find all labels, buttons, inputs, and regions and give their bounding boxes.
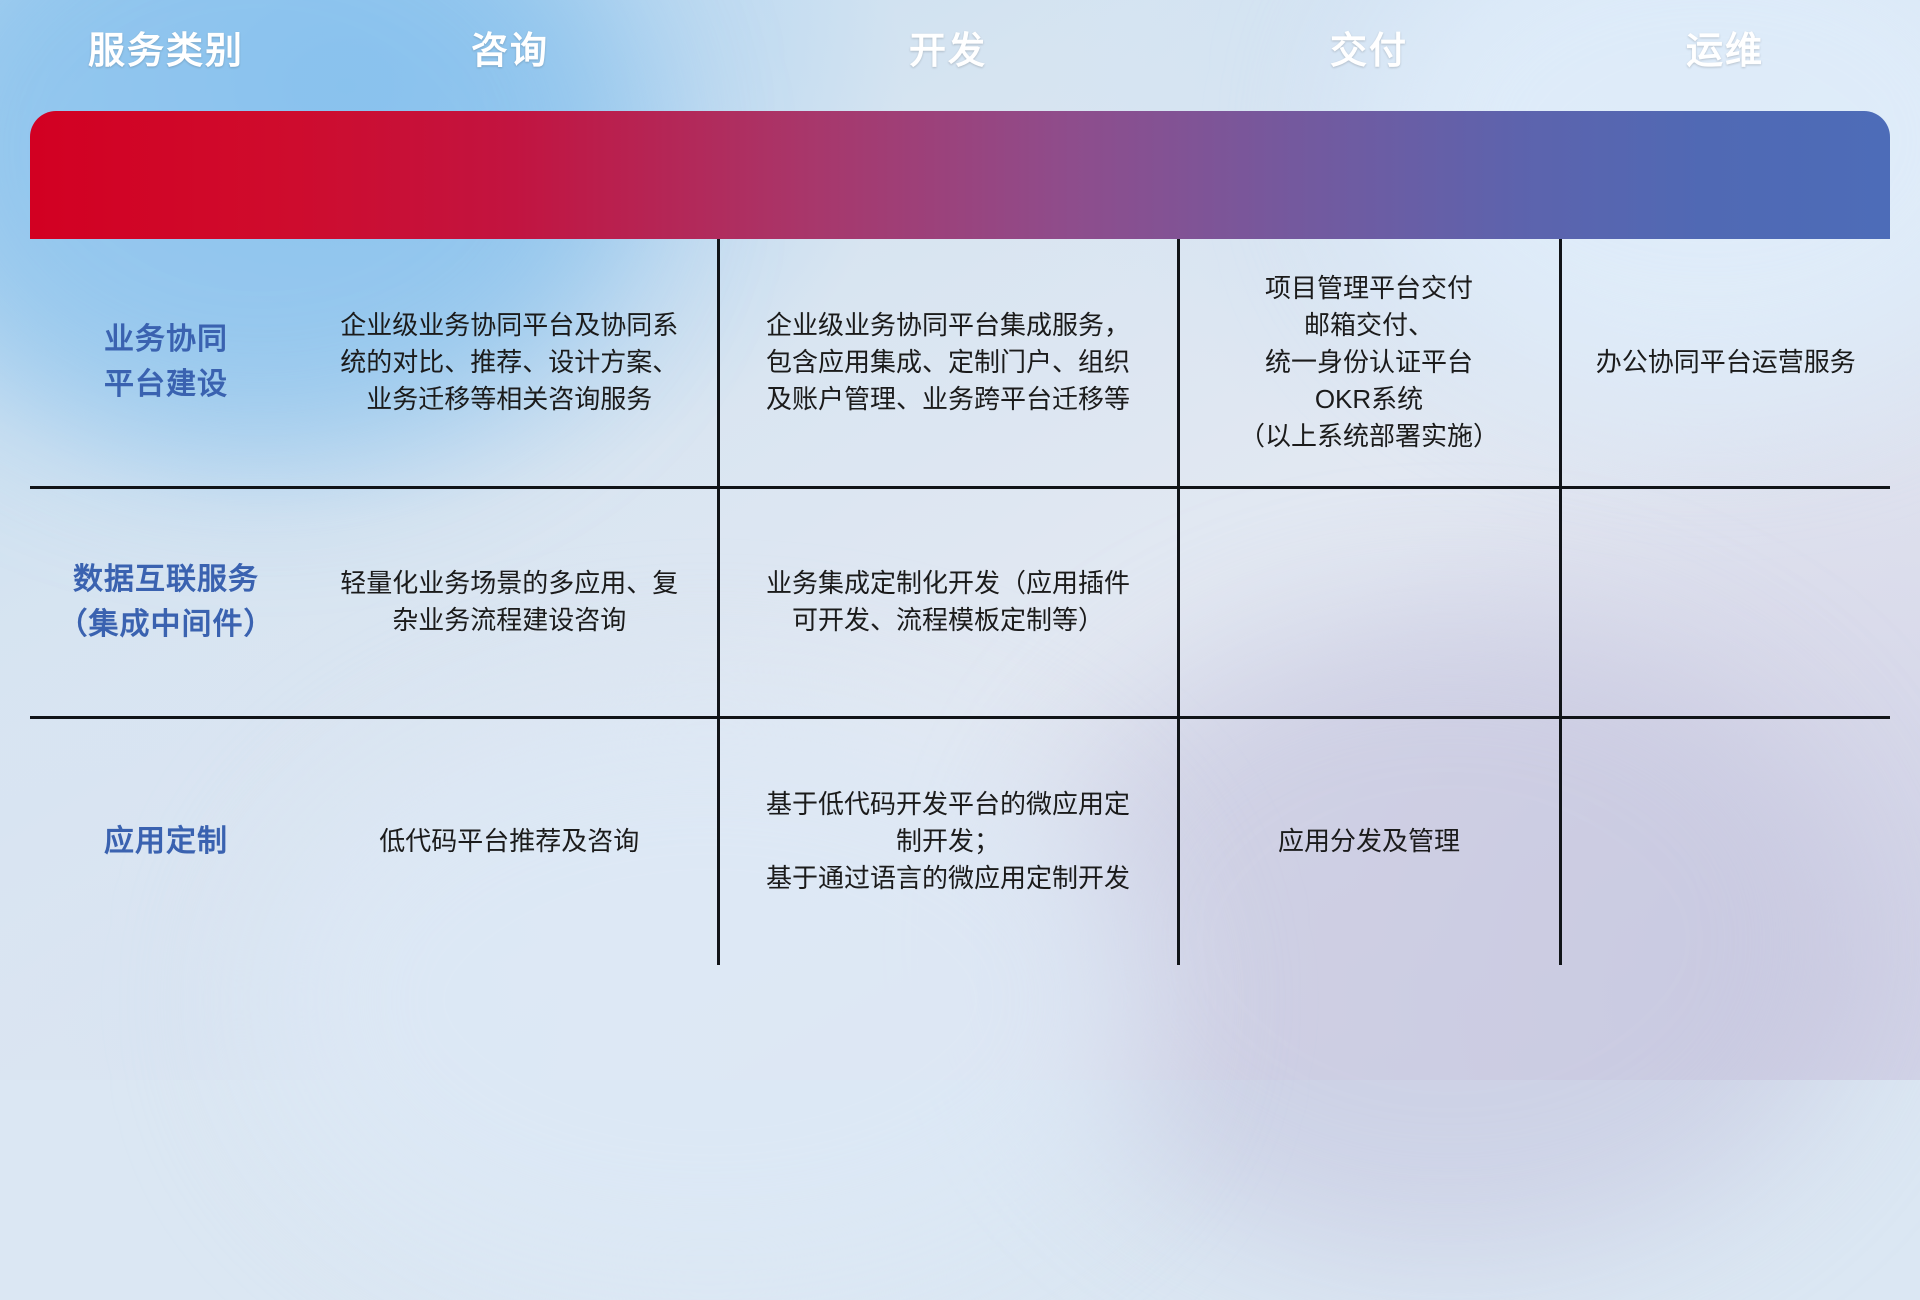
- cell-r2-development: 业务集成定制化开发（应用插件 可开发、流程模板定制等）: [718, 487, 1178, 717]
- cell-r2-delivery: [1178, 487, 1560, 717]
- table-body: 业务协同 平台建设 企业级业务协同平台及协同系 统的对比、推荐、设计方案、 业务…: [30, 239, 1890, 965]
- row-label-data-interconnect: 数据互联服务 （集成中间件）: [30, 487, 302, 717]
- header-gradient-bar: [30, 111, 1890, 239]
- table-header: 服务类别 咨询 开发 交付 运维: [30, 111, 1890, 239]
- cell-r3-delivery: 应用分发及管理: [1178, 717, 1560, 965]
- table-row: 业务协同 平台建设 企业级业务协同平台及协同系 统的对比、推荐、设计方案、 业务…: [30, 239, 1890, 487]
- cell-r2-consulting: 轻量化业务场景的多应用、复 杂业务流程建设咨询: [302, 487, 718, 717]
- table-row: 数据互联服务 （集成中间件） 轻量化业务场景的多应用、复 杂业务流程建设咨询 业…: [30, 487, 1890, 717]
- service-matrix-table: 服务类别 咨询 开发 交付 运维 业务协同 平台建设 企业级业务协同平台及协同系…: [30, 111, 1890, 965]
- column-header-consulting: 咨询: [302, 0, 718, 111]
- column-header-development: 开发: [718, 0, 1178, 111]
- cell-r1-operations: 办公协同平台运营服务: [1560, 239, 1890, 487]
- service-table: 服务类别 咨询 开发 交付 运维 业务协同 平台建设 企业级业务协同平台及协同系…: [30, 111, 1890, 965]
- slide-canvas: 服务类别 咨询 开发 交付 运维 业务协同 平台建设 企业级业务协同平台及协同系…: [0, 0, 1920, 1080]
- cell-r1-delivery: 项目管理平台交付 邮箱交付、 统一身份认证平台 OKR系统 （以上系统部署实施）: [1178, 239, 1560, 487]
- cell-r1-consulting: 企业级业务协同平台及协同系 统的对比、推荐、设计方案、 业务迁移等相关咨询服务: [302, 239, 718, 487]
- header-labels-row: 服务类别 咨询 开发 交付 运维: [30, 0, 1890, 111]
- cell-r2-operations: [1560, 487, 1890, 717]
- row-label-business-collaboration: 业务协同 平台建设: [30, 239, 302, 487]
- cell-r3-consulting: 低代码平台推荐及咨询: [302, 717, 718, 965]
- cell-r3-operations: [1560, 717, 1890, 965]
- cell-r1-development: 企业级业务协同平台集成服务， 包含应用集成、定制门户、组织 及账户管理、业务跨平…: [718, 239, 1178, 487]
- cell-r3-development: 基于低代码开发平台的微应用定 制开发； 基于通过语言的微应用定制开发: [718, 717, 1178, 965]
- column-header-category: 服务类别: [30, 0, 302, 111]
- table-row: 应用定制 低代码平台推荐及咨询 基于低代码开发平台的微应用定 制开发； 基于通过…: [30, 717, 1890, 965]
- row-label-app-customization: 应用定制: [30, 717, 302, 965]
- column-header-delivery: 交付: [1178, 0, 1560, 111]
- column-header-operations: 运维: [1560, 0, 1890, 111]
